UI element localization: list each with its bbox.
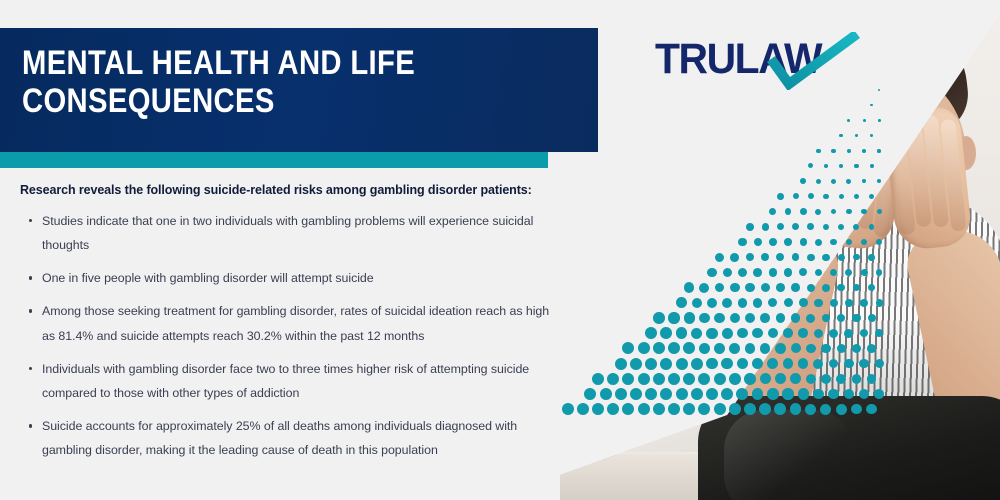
pattern-dot xyxy=(715,253,724,262)
pattern-dot xyxy=(676,388,688,400)
title-block: Mental Health and Life Consequences xyxy=(0,28,598,152)
pattern-dot xyxy=(854,164,858,168)
teal-accent-bar xyxy=(0,152,548,168)
pattern-dot xyxy=(754,238,762,246)
pattern-dot xyxy=(863,119,866,122)
pattern-dot xyxy=(831,149,835,153)
pattern-dot xyxy=(592,373,604,385)
pattern-dot xyxy=(831,209,837,215)
pattern-dot xyxy=(691,358,703,370)
pattern-dot xyxy=(877,179,881,183)
pattern-dot xyxy=(676,297,687,308)
pattern-dot xyxy=(784,238,792,246)
pattern-dot xyxy=(577,403,589,415)
pattern-dot xyxy=(721,388,733,400)
pattern-dot xyxy=(808,193,814,199)
pattern-dot xyxy=(706,328,717,339)
pattern-dot xyxy=(600,388,612,400)
pattern-dot xyxy=(692,298,703,309)
pattern-dot xyxy=(638,373,650,385)
bullet-point-icon xyxy=(29,276,32,279)
pattern-dot xyxy=(830,239,837,246)
pattern-dot xyxy=(862,149,866,153)
pattern-dot xyxy=(638,342,650,354)
pattern-dot xyxy=(776,283,785,292)
pattern-dot xyxy=(630,388,642,400)
pattern-dot xyxy=(622,342,634,354)
pattern-dot xyxy=(745,343,756,354)
pattern-dot xyxy=(660,358,672,370)
pattern-dot xyxy=(698,403,710,415)
pattern-dot xyxy=(668,312,679,323)
pattern-dot xyxy=(653,342,665,354)
lap-highlight xyxy=(724,410,854,500)
list-item-text: Suicide accounts for approximately 25% o… xyxy=(42,419,517,457)
list-item: Studies indicate that one in two individ… xyxy=(20,209,560,257)
pattern-dot xyxy=(684,312,695,323)
intro-paragraph: Research reveals the following suicide-r… xyxy=(20,182,560,199)
pattern-dot xyxy=(777,193,784,200)
pattern-dot xyxy=(753,298,763,308)
bullet-point-icon xyxy=(29,309,32,312)
pattern-dot xyxy=(676,327,688,339)
pattern-dot xyxy=(645,388,657,400)
list-item: Among those seeking treatment for gambli… xyxy=(20,299,560,347)
pattern-dot xyxy=(615,358,627,370)
pattern-dot xyxy=(737,328,748,339)
pattern-dot xyxy=(683,403,695,415)
pattern-dot xyxy=(722,328,733,339)
pattern-dot xyxy=(607,403,619,415)
pattern-dot xyxy=(738,238,746,246)
pattern-dot xyxy=(730,283,740,293)
pattern-dot xyxy=(784,268,792,276)
pattern-dot xyxy=(791,283,800,292)
list-item-text: Among those seeking treatment for gambli… xyxy=(42,304,549,342)
pattern-dot xyxy=(878,119,881,122)
pattern-dot xyxy=(721,358,733,370)
pattern-dot xyxy=(723,268,732,277)
pattern-dot xyxy=(707,298,717,308)
pattern-dot xyxy=(847,149,851,153)
pattern-dot xyxy=(799,268,807,276)
pattern-dot xyxy=(707,268,717,278)
pattern-dot xyxy=(869,194,874,199)
pattern-dot xyxy=(785,208,792,215)
pattern-dot xyxy=(824,164,829,169)
pattern-dot xyxy=(660,327,672,339)
bullet-point-icon xyxy=(29,219,32,222)
pattern-dot xyxy=(792,253,800,261)
pattern-dot xyxy=(776,313,786,323)
pattern-dot xyxy=(745,313,755,323)
trulaw-logo[interactable]: TRULAW xyxy=(655,36,865,96)
pattern-dot xyxy=(645,358,657,370)
pattern-dot xyxy=(562,403,574,415)
pattern-dot xyxy=(815,239,822,246)
pattern-dot xyxy=(800,208,807,215)
pattern-dot xyxy=(592,403,604,415)
pattern-dot xyxy=(760,313,770,323)
pattern-dot xyxy=(699,283,709,293)
pattern-dot xyxy=(823,224,830,231)
pattern-dot xyxy=(800,178,806,184)
pattern-dot xyxy=(769,238,777,246)
pattern-dot xyxy=(746,223,754,231)
pattern-dot xyxy=(855,134,859,138)
pattern-dot xyxy=(800,238,807,245)
pattern-dot xyxy=(808,163,813,168)
pattern-dot xyxy=(839,134,843,138)
pattern-dot xyxy=(846,209,852,215)
pattern-dot xyxy=(607,373,619,385)
pattern-dot xyxy=(660,388,672,400)
pattern-dot xyxy=(699,343,711,355)
pattern-dot xyxy=(793,193,799,199)
pattern-dot xyxy=(714,403,726,415)
pattern-dot xyxy=(722,298,732,308)
pattern-dot xyxy=(691,328,702,339)
bullet-point-icon xyxy=(29,424,32,427)
pattern-dot xyxy=(730,313,740,323)
pattern-dot xyxy=(684,282,694,292)
pattern-dot xyxy=(699,313,710,324)
pattern-dot xyxy=(683,342,695,354)
pattern-dot xyxy=(847,119,850,122)
pattern-dot xyxy=(622,373,634,385)
pattern-dot xyxy=(714,373,726,385)
pattern-dot xyxy=(630,358,642,370)
list-item-text: Individuals with gambling disorder face … xyxy=(42,362,529,400)
pattern-dot xyxy=(746,253,755,262)
pattern-dot xyxy=(822,254,829,261)
pattern-dot xyxy=(668,373,680,385)
pattern-dot xyxy=(846,179,851,184)
pattern-dot xyxy=(792,223,799,230)
pattern-dot xyxy=(753,268,762,277)
check-icon xyxy=(767,32,863,90)
pattern-dot xyxy=(615,388,627,400)
pattern-dot xyxy=(714,313,725,324)
pattern-dot xyxy=(745,283,754,292)
pattern-dot xyxy=(760,343,771,354)
hand-right xyxy=(883,104,973,251)
list-item: One in five people with gambling disorde… xyxy=(20,266,560,290)
pattern-dot xyxy=(831,179,836,184)
pattern-dot xyxy=(777,223,784,230)
pattern-dot xyxy=(698,373,710,385)
list-item: Suicide accounts for approximately 25% o… xyxy=(20,414,560,462)
pattern-dot xyxy=(815,269,823,277)
pattern-dot xyxy=(807,223,814,230)
pattern-dot xyxy=(729,373,741,385)
pattern-dot xyxy=(706,358,718,370)
pattern-dot xyxy=(823,194,829,200)
pattern-dot xyxy=(638,403,650,415)
pattern-dot xyxy=(776,253,784,261)
list-item-text: One in five people with gambling disorde… xyxy=(42,271,374,285)
pattern-dot xyxy=(668,342,680,354)
list-item-text: Studies indicate that one in two individ… xyxy=(42,214,533,252)
pattern-dot xyxy=(838,224,844,230)
ear-left xyxy=(812,138,832,172)
pattern-dot xyxy=(815,209,821,215)
pattern-dot xyxy=(714,343,725,354)
risk-bullet-list: Studies indicate that one in two individ… xyxy=(20,209,560,463)
pattern-dot xyxy=(784,298,793,307)
pattern-dot xyxy=(691,388,703,400)
pattern-dot xyxy=(762,223,770,231)
list-item: Individuals with gambling disorder face … xyxy=(20,357,560,405)
pattern-dot xyxy=(653,403,665,415)
pattern-dot xyxy=(768,298,777,307)
pattern-dot xyxy=(738,268,747,277)
pattern-dot xyxy=(769,268,778,277)
pattern-dot xyxy=(807,254,815,262)
pattern-dot xyxy=(676,358,688,370)
bullet-point-icon xyxy=(29,367,32,370)
pattern-dot xyxy=(668,403,680,415)
pattern-dot xyxy=(683,373,695,385)
pattern-dot xyxy=(769,208,776,215)
pattern-dot xyxy=(870,104,873,107)
pattern-dot xyxy=(645,327,657,339)
pattern-dot xyxy=(761,283,770,292)
pattern-dot xyxy=(768,328,778,338)
pattern-dot xyxy=(730,253,739,262)
pattern-dot xyxy=(653,312,665,324)
pattern-dot xyxy=(854,194,859,199)
pattern-dot xyxy=(584,388,596,400)
pattern-dot xyxy=(816,149,821,154)
body-copy: Research reveals the following suicide-r… xyxy=(20,182,560,472)
pattern-dot xyxy=(878,89,880,91)
pattern-dot xyxy=(729,343,740,354)
pattern-dot xyxy=(738,298,748,308)
pattern-dot xyxy=(653,373,665,385)
pattern-dot xyxy=(622,403,634,415)
pattern-dot xyxy=(870,164,874,168)
pattern-dot xyxy=(839,194,844,199)
pattern-dot xyxy=(752,328,762,338)
pattern-dot xyxy=(839,164,844,169)
pattern-dot xyxy=(862,179,867,184)
pattern-dot xyxy=(715,283,725,293)
pattern-dot xyxy=(706,388,718,400)
page-title: Mental Health and Life Consequences xyxy=(22,44,500,121)
infographic-canvas: Mental Health and Life Consequences TRUL… xyxy=(0,0,1000,500)
pattern-dot xyxy=(877,149,881,153)
pattern-dot xyxy=(761,253,769,261)
pattern-dot xyxy=(870,134,873,137)
pattern-dot xyxy=(737,358,748,369)
pattern-dot xyxy=(816,179,821,184)
